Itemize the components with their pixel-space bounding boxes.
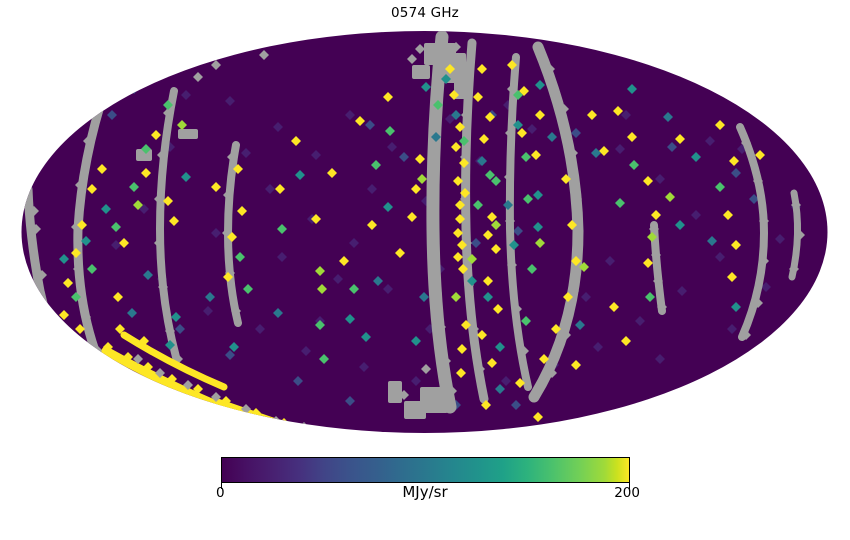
colorbar-min-label: 0 xyxy=(216,485,225,501)
sky-map[interactable] xyxy=(20,29,830,435)
page-title: 0574 GHz xyxy=(0,5,850,21)
mollweide-projection-svg xyxy=(20,29,830,435)
colorbar-unit-label: MJy/sr xyxy=(225,483,625,501)
figure-canvas: 0574 GHz xyxy=(0,0,850,540)
colorbar-gradient xyxy=(221,457,630,483)
colorbar[interactable] xyxy=(221,457,630,483)
